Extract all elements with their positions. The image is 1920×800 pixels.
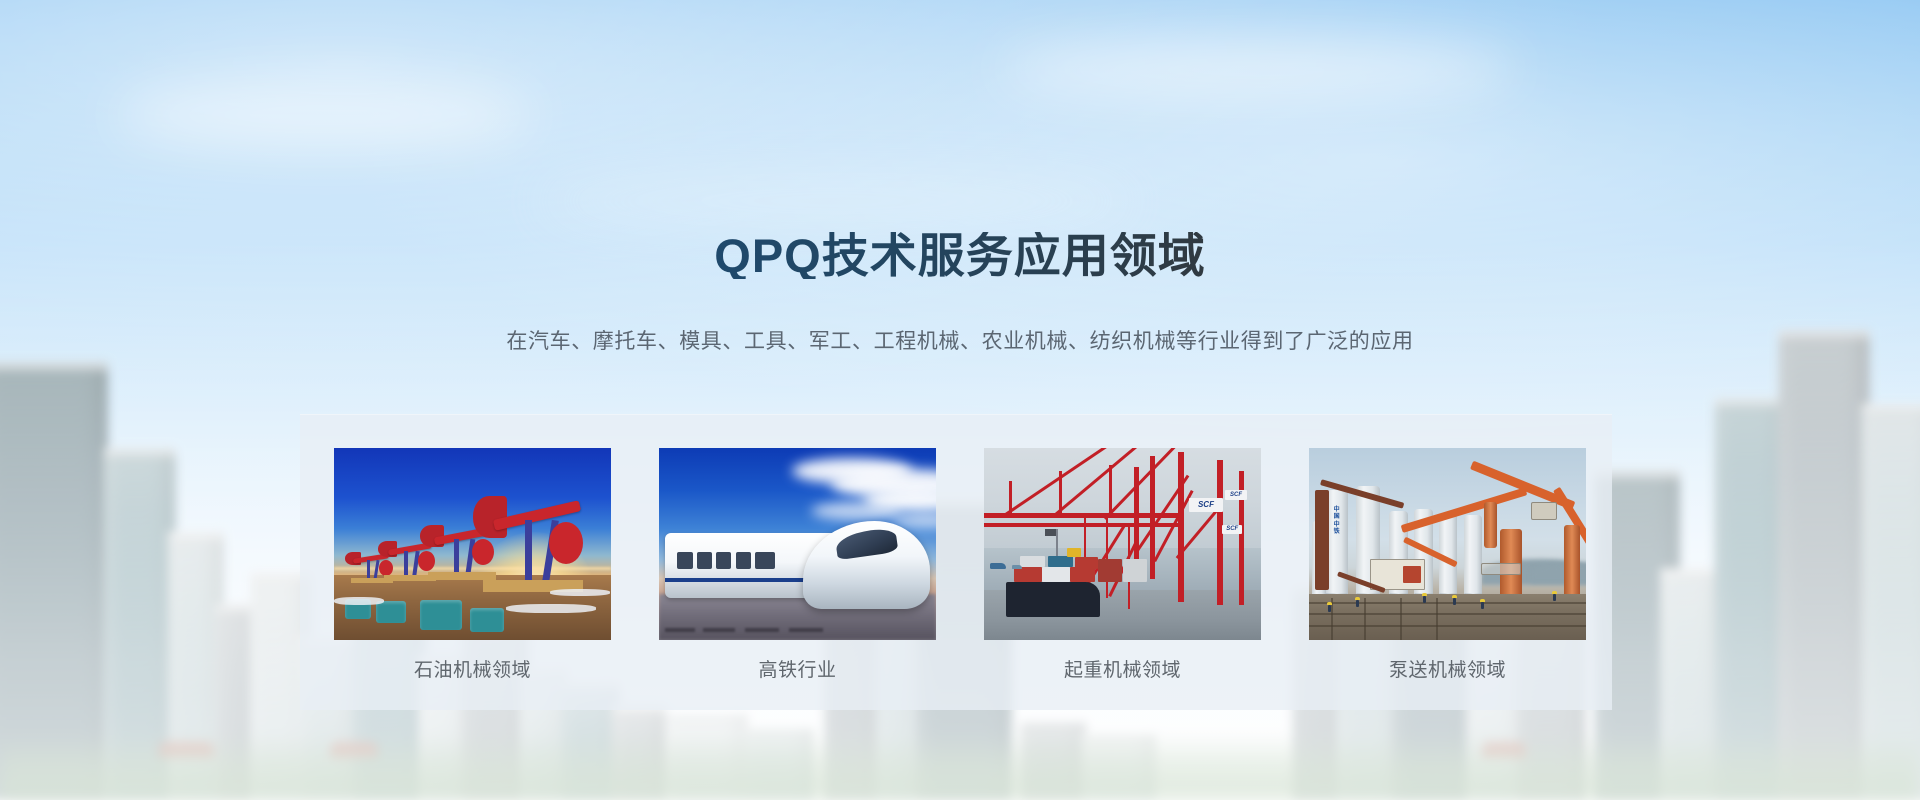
card-label: 起重机械领域	[984, 655, 1261, 682]
silo-text: 中国中铁	[1332, 507, 1342, 537]
high-speed-train-photo[interactable]	[659, 448, 936, 640]
concrete-pumping-photo[interactable]: 中国中铁	[1309, 448, 1586, 640]
application-card-list: 石油机械领域	[334, 448, 1579, 678]
application-card[interactable]: 石油机械领域	[334, 448, 611, 678]
scf-logo: SCF	[1189, 498, 1223, 512]
card-label: 泵送机械领域	[1309, 655, 1586, 682]
port-gantry-cranes-photo[interactable]: SCF SCF SCF	[984, 448, 1261, 640]
card-label: 石油机械领域	[334, 655, 611, 682]
application-card[interactable]: 中国中铁	[1309, 448, 1586, 678]
page-title: QPQ技术服务应用领域	[0, 232, 1920, 279]
page-subtitle: 在汽车、摩托车、模具、工具、军工、工程机械、农业机械、纺织机械等行业得到了广泛的…	[0, 325, 1920, 355]
scf-logo: SCF	[1222, 525, 1242, 534]
application-card[interactable]: SCF SCF SCF 起重	[984, 448, 1261, 678]
scf-logo: SCF	[1225, 490, 1247, 500]
card-label: 高铁行业	[659, 655, 936, 682]
application-card[interactable]: 高铁行业	[659, 448, 936, 678]
oil-pumpjacks-photo[interactable]	[334, 448, 611, 640]
